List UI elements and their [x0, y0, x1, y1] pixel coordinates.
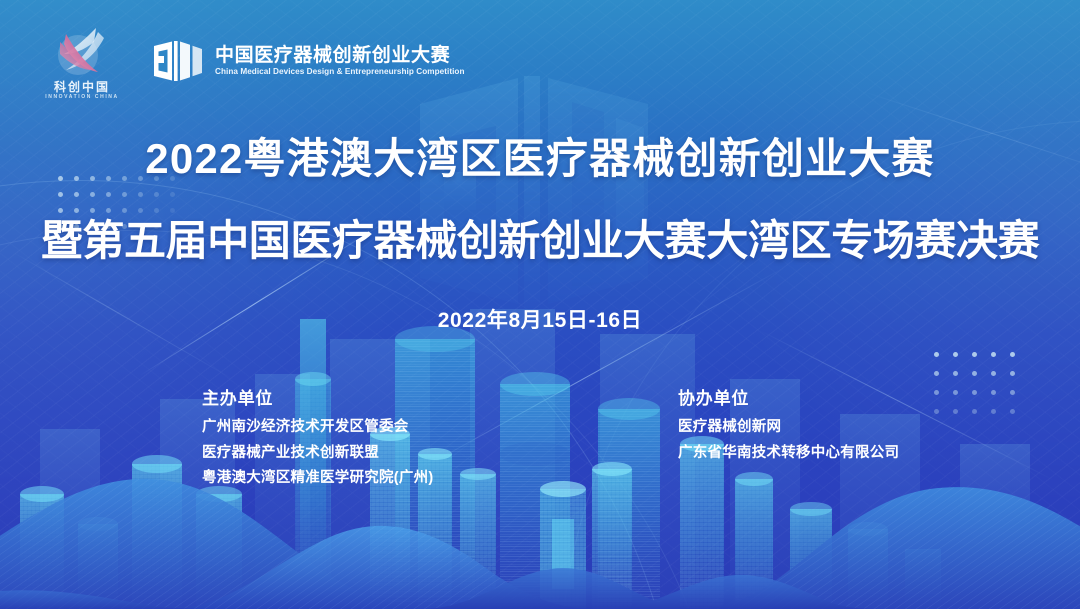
dot	[138, 208, 143, 213]
competition-mark-icon	[152, 35, 204, 87]
kechuang-zhongguo-logo: 科创中国 INNOVATION CHINA	[36, 24, 128, 98]
kc-logo-text-cn: 科创中国	[36, 81, 128, 93]
dot	[58, 192, 63, 197]
header-logos: 科创中国 INNOVATION CHINA 中国医疗器械创新创业大赛	[36, 24, 465, 98]
dot	[122, 208, 127, 213]
host-organizer-item: 粤港澳大湾区精准医学研究院(广州)	[202, 471, 433, 486]
dot	[154, 208, 159, 213]
dot	[74, 192, 79, 197]
dot	[170, 208, 175, 213]
competition-logo-text-en: China Medical Devices Design & Entrepren…	[215, 67, 465, 78]
dot	[74, 208, 79, 213]
dot	[106, 208, 111, 213]
dot	[58, 208, 63, 213]
dot	[90, 192, 95, 197]
dot	[106, 192, 111, 197]
dot	[138, 192, 143, 197]
dot	[90, 208, 95, 213]
poster-banner: 科创中国 INNOVATION CHINA 中国医疗器械创新创业大赛	[0, 0, 1080, 609]
main-title-line-2: 暨第五届中国医疗器械创新创业大赛大湾区专场赛决赛	[0, 220, 1080, 262]
main-title-line-1: 2022粤港澳大湾区医疗器械创新创业大赛	[0, 138, 1080, 180]
host-organizer-block: 主办单位 广州南沙经济技术开发区管委会 医疗器械产业技术创新联盟 粤港澳大湾区精…	[202, 390, 433, 486]
co-organizer-item: 医疗器械创新网	[678, 420, 899, 435]
competition-logo: 中国医疗器械创新创业大赛 China Medical Devices Desig…	[152, 35, 465, 87]
competition-logo-text-cn: 中国医疗器械创新创业大赛	[215, 45, 465, 67]
host-organizer-heading: 主办单位	[202, 390, 433, 407]
co-organizer-heading: 协办单位	[678, 390, 899, 407]
host-organizer-item: 广州南沙经济技术开发区管委会	[202, 420, 433, 435]
host-organizer-item: 医疗器械产业技术创新联盟	[202, 446, 433, 461]
dot	[122, 192, 127, 197]
wave-silhouettes	[0, 459, 1080, 609]
co-organizer-item: 广东省华南技术转移中心有限公司	[678, 446, 899, 461]
kc-logo-text-en: INNOVATION CHINA	[36, 95, 128, 100]
dot	[170, 192, 175, 197]
event-date: 2022年8月15日-16日	[0, 310, 1080, 331]
co-organizer-block: 协办单位 医疗器械创新网 广东省华南技术转移中心有限公司	[678, 390, 899, 460]
dot	[154, 192, 159, 197]
